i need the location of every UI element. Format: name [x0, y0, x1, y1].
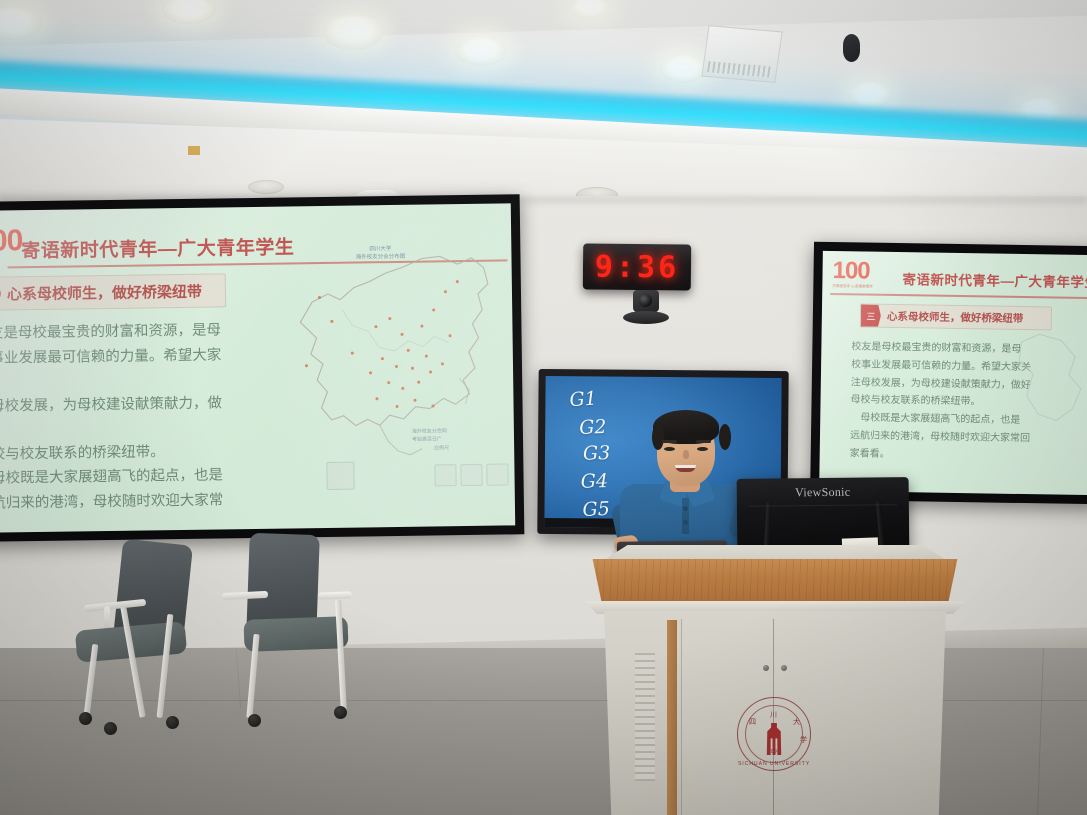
title-underline — [830, 293, 1087, 299]
slide-title: 寄语新时代青年—广大青年学生 — [21, 232, 294, 263]
anniversary-logo: 100 共青团百年 心系国家情怀 — [832, 259, 873, 290]
led-wall-clock: 9:36 — [583, 243, 691, 290]
slide-right: 100 共青团百年 心系国家情怀 寄语新时代青年—广大青年学生 三 心系母校师生… — [819, 251, 1087, 495]
chair-leg — [335, 600, 347, 712]
podium-wood-strip — [667, 620, 677, 815]
sichuan-university-emblem: 四 川 大 学 1896 SICHUAN UNIVERSITY — [737, 697, 811, 771]
chair[interactable] — [76, 540, 246, 740]
whiteboard-ink-line: G4 — [580, 470, 608, 493]
ceiling-speaker — [248, 180, 284, 194]
slide-paragraph: 远航归来的港湾，母校随时欢迎大家常回 — [0, 490, 227, 533]
section-heading-text: 心系母校师生，做好桥梁纽带 — [881, 308, 1030, 325]
slide-paragraph: 校事业发展最可信赖的力量。希望大家关 — [0, 344, 225, 393]
chair-armrest — [318, 591, 352, 599]
slide-left: 100 寄语新时代青年—广大青年学生 三 心系母校师生，做好桥梁纽带 校友是母校… — [0, 203, 515, 532]
podium: 四 川 大 学 1896 SICHUAN UNIVERSITY — [575, 545, 975, 815]
map-tool-box — [486, 463, 508, 485]
china-alumni-map: 四川大学 海外校友分会分布图 海外校友分会同 考验高百日广 — [281, 227, 515, 510]
chair-seat — [243, 616, 348, 652]
map-outline-decor — [1012, 330, 1087, 442]
map-legend-box — [326, 462, 354, 490]
map-tool-box — [434, 464, 456, 486]
clock-time: 9:36 — [595, 249, 680, 285]
whiteboard-ink-line: G3 — [583, 442, 611, 465]
emblem-english-name: SICHUAN UNIVERSITY — [737, 761, 811, 767]
projection-screen-right: 100 共青团百年 心系国家情怀 寄语新时代青年—广大青年学生 三 心系母校师生… — [810, 242, 1087, 505]
monitor-brand-label: ViewSonic — [737, 484, 909, 501]
map-scale-label: 比例尺 — [434, 444, 449, 451]
podium-door-knob[interactable] — [763, 665, 769, 671]
whiteboard-ink-line: G2 — [579, 416, 607, 439]
chair[interactable] — [222, 534, 392, 740]
ceiling-fixture-amber — [188, 146, 200, 155]
section-heading-badge: 三 心系母校师生，做好桥梁纽带 — [860, 303, 1052, 330]
slide-paragraph: 母校既是大家展翅高飞的起点，也是 — [0, 465, 227, 491]
podium-door-knob[interactable] — [781, 665, 787, 671]
section-heading-text: 心系母校师生，做好桥梁纽带 — [1, 280, 208, 304]
lecture-hall-photo: 100 寄语新时代青年—广大青年学生 三 心系母校师生，做好桥梁纽带 校友是母校… — [0, 0, 1087, 815]
chair-armrest-post — [104, 606, 110, 630]
podium-vent — [635, 653, 655, 781]
emblem-year: 1896 — [737, 749, 811, 755]
section-heading-badge: 三 心系母校师生，做好桥梁纽带 — [0, 273, 226, 311]
podium-door-edge — [681, 619, 682, 815]
map-tool-box — [460, 464, 482, 486]
map-title: 四川大学 海外校友分会分布图 — [325, 244, 435, 262]
anniversary-logo-subtitle: 共青团百年 心系国家情怀 — [832, 284, 873, 290]
anniversary-logo-digits: 100 — [832, 259, 873, 284]
anniversary-logo-digits: 100 — [0, 226, 22, 257]
map-note: 海外校友分会同 考验高百日广 — [412, 428, 447, 443]
section-number-tag: 三 — [861, 304, 881, 326]
ceiling-sensor-icon — [843, 34, 860, 62]
podium-wood-panel — [583, 559, 967, 605]
slide-paragraph: 校友是母校最宝贵的财富和资源，是母 — [0, 319, 225, 345]
ptz-camera-icon — [623, 290, 669, 324]
slide-title: 寄语新时代青年—广大青年学生 — [902, 268, 1087, 291]
slide-paragraph: 母校与校友联系的桥梁纽带。 — [0, 440, 226, 466]
slide-paragraph: 家看看。 — [850, 446, 1086, 466]
slide-body-text: 校友是母校最宝贵的财富和资源，是母 校事业发展最可信赖的力量。希望大家关 注母校… — [0, 319, 227, 532]
presenter-placket — [682, 498, 689, 534]
whiteboard-ink-line: G1 — [569, 387, 598, 411]
anniversary-logo: 100 — [0, 226, 22, 257]
projection-screen-left: 100 寄语新时代青年—广大青年学生 三 心系母校师生，做好桥梁纽带 校友是母校… — [0, 194, 524, 542]
slide-paragraph: 注母校发展，为母校建设献策献力，做好 — [0, 392, 226, 441]
